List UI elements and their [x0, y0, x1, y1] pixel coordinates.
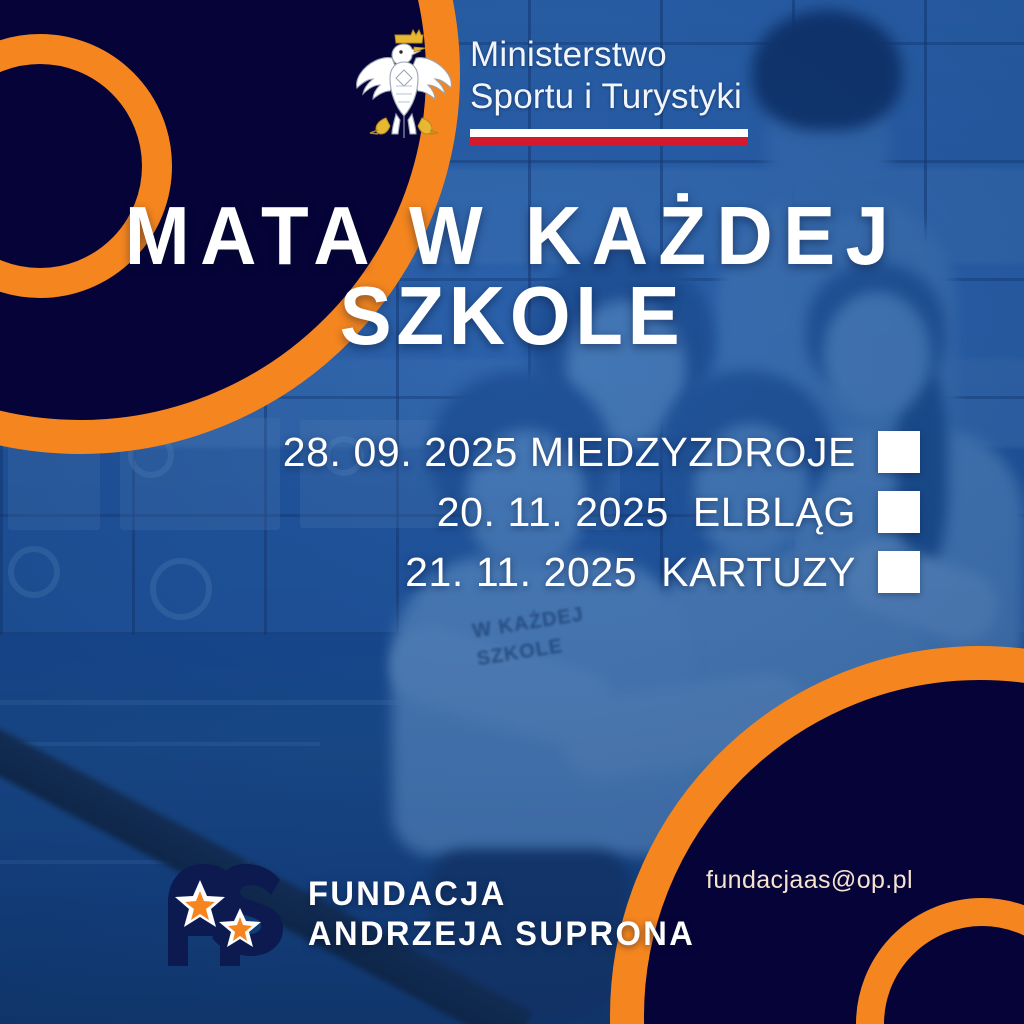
poster-title: MATA W KAŻDEJ SZKOLE: [31, 196, 994, 356]
poster-canvas: W KAŻDEJ SZKOLE: [0, 0, 1024, 1024]
event-date-row: 21. 11. 2025 KARTUZY: [405, 546, 920, 598]
event-date-list: 28. 09. 2025 MIEDZYZDROJE 20. 11. 2025 E…: [0, 426, 1024, 598]
ministry-line1: Ministerstwo: [470, 34, 748, 76]
polish-eagle-icon: [352, 22, 456, 144]
flag-red-stripe: [470, 137, 748, 146]
foundation-name-line1: FUNDACJA: [308, 874, 695, 914]
event-date-text: 20. 11. 2025 ELBLĄG: [437, 486, 856, 538]
event-date-text: 21. 11. 2025 KARTUZY: [405, 546, 856, 598]
white-square-marker-icon: [878, 431, 920, 473]
title-line-2: SZKOLE: [31, 276, 994, 356]
contact-email[interactable]: fundacjaas@op.pl: [706, 866, 913, 895]
event-date-text: 28. 09. 2025 MIEDZYZDROJE: [283, 426, 856, 478]
flag-white-stripe: [470, 129, 748, 137]
ministry-line2: Sportu i Turystyki: [470, 76, 748, 118]
white-square-marker-icon: [878, 491, 920, 533]
event-date-row: 20. 11. 2025 ELBLĄG: [437, 486, 920, 538]
foundation-name-line2: ANDRZEJA SUPRONA: [308, 914, 695, 954]
foundation-branding: FUNDACJA ANDRZEJA SUPRONA: [164, 858, 711, 970]
polish-flag-bar-icon: [470, 129, 748, 146]
ministry-logo: Ministerstwo Sportu i Turystyki: [352, 22, 748, 146]
title-line-1: MATA W KAŻDEJ: [31, 196, 994, 276]
event-date-row: 28. 09. 2025 MIEDZYZDROJE: [283, 426, 920, 478]
foundation-name: FUNDACJA ANDRZEJA SUPRONA: [308, 874, 695, 954]
white-square-marker-icon: [878, 551, 920, 593]
as-monogram-icon: [164, 858, 288, 970]
ministry-text-block: Ministerstwo Sportu i Turystyki: [470, 22, 748, 146]
